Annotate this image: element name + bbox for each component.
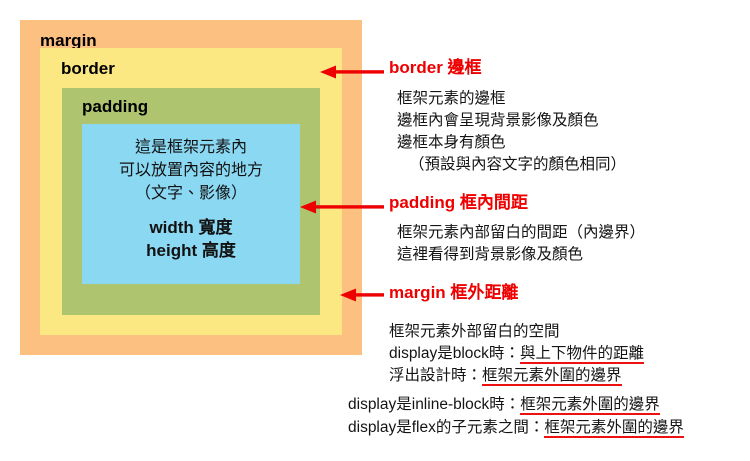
callout-margin-line-2-prefix: display是block時：: [389, 345, 520, 362]
bottom-note-line-1-prefix: display是inline-block時：: [348, 396, 520, 413]
bottom-note-line-1: display是inline-block時：框架元素外圍的邊界: [348, 393, 684, 416]
padding-box-label: padding: [82, 98, 148, 115]
bottom-note-line-1-underlined: 框架元素外圍的邊界: [520, 396, 660, 415]
content-height-label: height 高度: [146, 239, 236, 263]
callout-border-body: 框架元素的邊框 邊框內會呈現背景影像及顏色 邊框本身有顏色 （預設與內容文字的顏…: [389, 88, 626, 176]
callout-margin-line-3-prefix: 浮出設計時：: [389, 367, 482, 384]
callout-margin-line-1: 框架元素外部留白的空間: [389, 321, 644, 343]
callout-margin-line-3: 浮出設計時：框架元素外圍的邊界: [389, 365, 644, 387]
callout-border-title: border 邊框: [389, 58, 626, 78]
padding-box: padding 這是框架元素內 可以放置內容的地方 （文字、影像） width …: [62, 88, 320, 315]
content-box: 這是框架元素內 可以放置內容的地方 （文字、影像） width 寬度 heigh…: [82, 124, 300, 284]
callout-padding-line-2: 這裡看得到背景影像及顏色: [397, 244, 645, 266]
box-model-diagram: margin border padding 這是框架元素內 可以放置內容的地方 …: [0, 0, 750, 461]
callout-border-line-2: 邊框內會呈現背景影像及顏色: [397, 110, 626, 132]
callout-border-line-4: （預設與內容文字的顏色相同）: [397, 154, 626, 176]
content-text-line-2: 可以放置內容的地方: [119, 159, 263, 182]
callout-padding-title: padding 框內間距: [389, 193, 645, 213]
content-text-line-1: 這是框架元素內: [135, 136, 247, 159]
callout-margin-title: margin 框外距離: [389, 283, 644, 303]
bottom-note-line-2: display是flex的子元素之間：框架元素外圍的邊界: [348, 416, 684, 439]
bottom-notes: display是inline-block時：框架元素外圍的邊界 display是…: [348, 393, 684, 440]
margin-arrow-icon: [340, 288, 384, 302]
callout-margin-line-2-underlined: 與上下物件的距離: [520, 345, 644, 364]
border-box-label: border: [61, 60, 115, 77]
callout-margin: margin 框外距離 框架元素外部留白的空間 display是block時：與…: [389, 283, 644, 387]
border-arrow-icon: [320, 65, 384, 79]
callout-border-line-3: 邊框本身有顏色: [397, 132, 626, 154]
callout-margin-line-2: display是block時：與上下物件的距離: [389, 343, 644, 365]
callout-border: border 邊框 框架元素的邊框 邊框內會呈現背景影像及顏色 邊框本身有顏色 …: [389, 58, 626, 176]
callout-padding: padding 框內間距 框架元素內部留白的間距（內邊界） 這裡看得到背景影像及…: [389, 193, 645, 266]
callout-padding-line-1: 框架元素內部留白的間距（內邊界）: [397, 222, 645, 244]
callout-border-line-1: 框架元素的邊框: [397, 88, 626, 110]
bottom-note-line-2-prefix: display是flex的子元素之間：: [348, 419, 544, 436]
margin-box: margin border padding 這是框架元素內 可以放置內容的地方 …: [20, 20, 362, 355]
border-box: border padding 這是框架元素內 可以放置內容的地方 （文字、影像）…: [40, 48, 342, 335]
callout-margin-line-3-underlined: 框架元素外圍的邊界: [482, 367, 622, 386]
bottom-note-line-2-underlined: 框架元素外圍的邊界: [544, 419, 684, 438]
content-text-line-3: （文字、影像）: [135, 182, 247, 205]
padding-arrow-icon: [300, 200, 384, 214]
margin-box-label: margin: [40, 32, 97, 49]
callout-margin-body: 框架元素外部留白的空間 display是block時：與上下物件的距離 浮出設計…: [389, 321, 644, 387]
content-width-label: width 寬度: [149, 216, 232, 240]
callout-padding-body: 框架元素內部留白的間距（內邊界） 這裡看得到背景影像及顏色: [389, 222, 645, 266]
